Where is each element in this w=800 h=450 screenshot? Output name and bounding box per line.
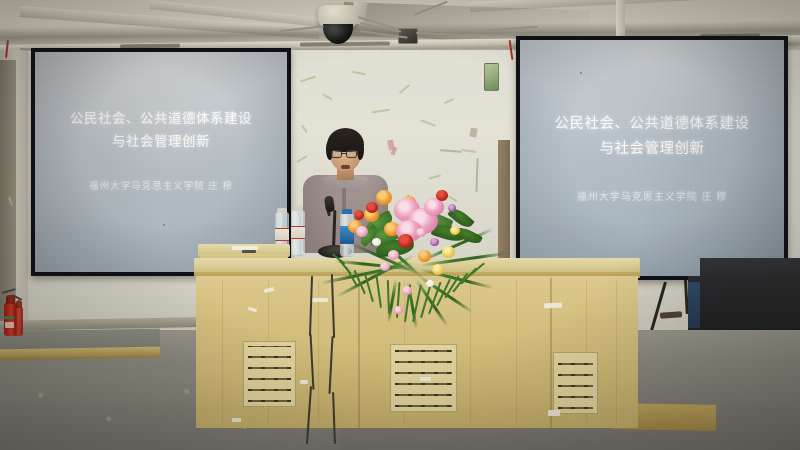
flower-bloom-yellow [442,246,455,258]
podium-seam [550,278,552,428]
flower-bloom-orange [418,250,431,262]
screen-speck [580,72,582,74]
flower-bloom-white [426,280,434,287]
projection-screen-right[interactable]: 公民社会、公共道德体系建设 与社会管理创新 福州大学马克思主义学院 庄 穆 [516,36,788,280]
paper-on-lectern [242,250,256,253]
slide-title-line-1: 公民社会、公共道德体系建设 [520,112,784,133]
tape-mark [232,418,241,422]
vent-grille [558,357,593,409]
flower-bloom-purple [430,238,439,246]
flower-bloom-pink [402,286,412,295]
frond-blade [387,280,390,314]
bottle-label [291,226,305,239]
tape-mark [300,380,308,384]
vent-grille [248,346,291,402]
wood-grain [616,280,617,424]
glasses-icon [331,150,342,158]
podium-vent-panel [553,352,598,414]
slide-title-line-1: 公民社会、公共道德体系建设 [35,107,287,127]
fire-extinguisher-neck [16,300,22,308]
slide-subtitle: 福州大学马克思主义学院 庄 穆 [35,178,287,192]
screen-speck [163,224,165,226]
glasses-icon [346,150,357,158]
blue-equipment-panel [688,282,700,328]
frond-blade [468,262,485,276]
flower-bloom-purple [448,204,456,212]
screen-surface-left: 公民社会、公共道德体系建设 与社会管理创新 福州大学马克思主义学院 庄 穆 [35,52,287,272]
bottle-label [275,228,289,241]
wood-grain [222,280,223,424]
slide-subtitle: 福州大学马克思主义学院 庄 穆 [520,188,784,203]
bottle-cap [277,208,287,213]
flower-bloom-yellow [432,264,444,275]
flower-bloom-pink [394,306,403,314]
flower-bloom-red [354,210,364,220]
flower-bloom-pink [388,250,399,260]
screen-vignette [35,52,287,272]
tape-mark [420,377,431,381]
flower-bloom-pink [356,226,368,237]
flower-bloom-pink [380,262,390,271]
flower-bloom-red [436,190,448,201]
tape-mark [312,298,328,302]
flower-bloom-yellow [450,226,460,235]
podium-vent-panel [243,341,296,407]
tape-mark [544,303,562,309]
slide-title-line-2: 与社会管理创新 [35,130,287,150]
flower-bloom-orange [376,190,392,205]
wall-mounted-green-box [484,63,499,91]
frond-blade [376,276,382,308]
projection-screen-left[interactable]: 公民社会、公共道德体系建设 与社会管理创新 福州大学马克思主义学院 庄 穆 [31,48,291,276]
flower-bloom-red [366,202,378,213]
slide-title-line-2: 与社会管理创新 [520,137,784,158]
glasses-icon [342,153,347,154]
wood-grain [516,280,517,424]
photograph-scene: 公民社会、公共道德体系建设 与社会管理创新 福州大学马克思主义学院 庄 穆 公民… [0,0,800,450]
flower-bloom-white [372,238,381,246]
tape-mark [548,410,560,416]
dark-background-area [688,276,800,336]
screen-surface-right: 公民社会、公共道德体系建设 与社会管理创新 福州大学马克思主义学院 庄 穆 [520,40,784,276]
flower-bloom-red [398,234,413,248]
screen-vignette [520,40,784,276]
fire-extinguisher [14,306,23,336]
flower-bloom-pink [416,228,426,237]
bottle-cap [293,206,303,211]
flower-arrangement [336,168,496,333]
